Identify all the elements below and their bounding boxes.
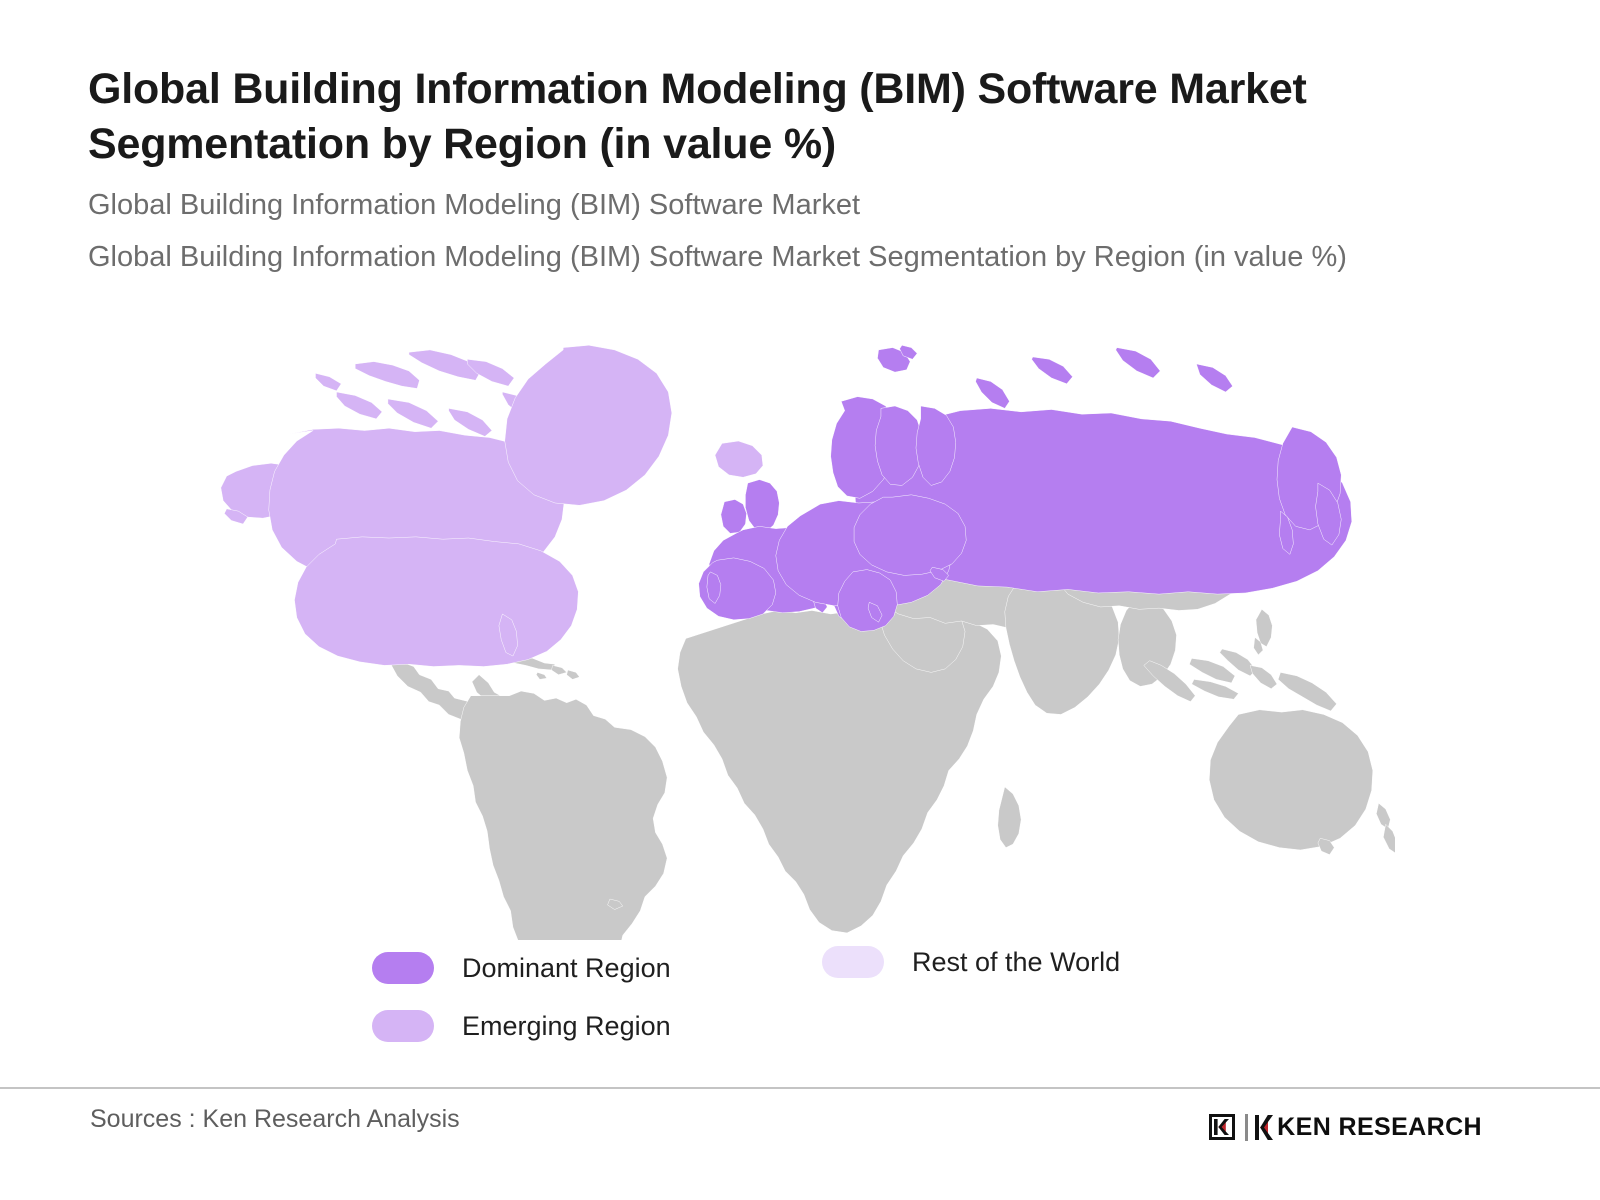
logo-text: KEN RESEARCH: [1277, 1115, 1482, 1140]
subtitle-block: Global Building Information Modeling (BI…: [88, 180, 1538, 283]
ken-research-logo[interactable]: KEN RESEARCH: [1207, 1109, 1482, 1145]
map-region-dominant-europe-russia: [699, 345, 1352, 631]
legend-label-emerging-region: Emerging Region: [462, 1011, 671, 1042]
footer-divider: [0, 1087, 1600, 1089]
legend-label-rest-of-the-world: Rest of the World: [912, 947, 1120, 978]
logo-wordmark: KEN RESEARCH: [1255, 1114, 1482, 1141]
slide-canvas: Global Building Information Modeling (BI…: [0, 0, 1600, 1200]
ken-research-monogram-icon: [1207, 1112, 1237, 1142]
subtitle-line-1: Global Building Information Modeling (BI…: [88, 180, 1538, 232]
legend-swatch-dominant-region: [372, 952, 434, 984]
legend: Dominant Region Emerging Region Rest of …: [372, 944, 1232, 1054]
logo-divider: [1245, 1114, 1248, 1141]
legend-label-dominant-region: Dominant Region: [462, 953, 671, 984]
map-region-emerging-north-america: [221, 345, 763, 666]
page-title: Global Building Information Modeling (BI…: [88, 62, 1538, 172]
sources-label: Sources : Ken Research Analysis: [90, 1105, 460, 1134]
legend-item-emerging-region[interactable]: Emerging Region: [372, 1010, 671, 1042]
legend-item-rest-of-the-world[interactable]: Rest of the World: [822, 946, 1120, 978]
world-map-svg: [215, 330, 1395, 940]
legend-swatch-emerging-region: [372, 1010, 434, 1042]
header: Global Building Information Modeling (BI…: [88, 62, 1538, 283]
logo-k-icon: [1255, 1114, 1277, 1141]
legend-swatch-rest-of-the-world: [822, 946, 884, 978]
world-map: [215, 330, 1395, 940]
legend-item-dominant-region[interactable]: Dominant Region: [372, 952, 671, 984]
subtitle-line-2: Global Building Information Modeling (BI…: [88, 232, 1538, 284]
